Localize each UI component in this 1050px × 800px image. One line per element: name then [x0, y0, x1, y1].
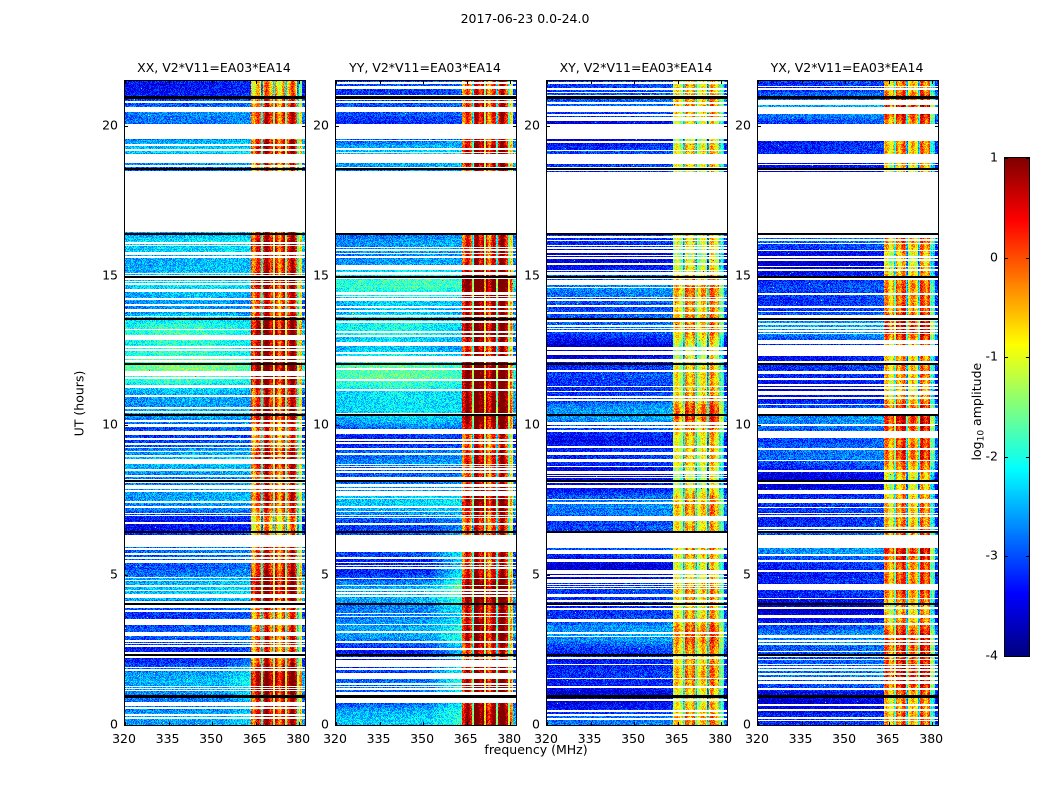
x-tick-label: 320: [534, 731, 558, 746]
y-tick-label: 10: [512, 417, 540, 432]
x-tick-label: 350: [621, 731, 645, 746]
x-tick: [169, 722, 170, 726]
x-tick: [256, 722, 257, 726]
colorbar-tick: [1004, 656, 1008, 657]
x-tick-top: [380, 80, 381, 84]
x-tick-top: [591, 80, 592, 84]
heatmap-canvas-yy: [336, 81, 516, 725]
x-tick-label: 350: [199, 731, 223, 746]
x-tick: [591, 722, 592, 726]
y-tick: [757, 276, 761, 277]
x-tick-top: [932, 80, 933, 84]
colorbar-tick: [1004, 357, 1008, 358]
y-tick: [546, 276, 550, 277]
x-tick-label: 320: [323, 731, 347, 746]
x-tick-top: [845, 80, 846, 84]
panel-title-yy: YY, V2*V11=EA03*EA14: [349, 60, 501, 75]
x-tick-label: 380: [919, 731, 943, 746]
y-tick: [335, 126, 339, 127]
y-tick-label: 0: [90, 717, 118, 732]
panel-title-xy: XY, V2*V11=EA03*EA14: [560, 60, 713, 75]
y-tick-label: 20: [90, 117, 118, 132]
colorbar-tick: [1004, 457, 1008, 458]
x-tick-top: [889, 80, 890, 84]
x-tick-label: 365: [243, 731, 267, 746]
colorbar-tick-label: -1: [968, 349, 998, 364]
panel-title-yx: YX, V2*V11=EA03*EA14: [771, 60, 924, 75]
panel-yy: YY, V2*V11=EA03*EA1432033535036538005101…: [335, 80, 515, 724]
colorbar-label-subscript: 10: [976, 430, 986, 441]
y-tick-right: [935, 725, 939, 726]
colorbar-tick-label: -3: [968, 548, 998, 563]
y-tick: [124, 725, 128, 726]
y-tick: [335, 575, 339, 576]
y-tick: [124, 575, 128, 576]
y-tick: [335, 425, 339, 426]
y-tick-label: 0: [301, 717, 329, 732]
y-tick-label: 0: [512, 717, 540, 732]
x-tick-label: 380: [497, 731, 521, 746]
x-tick-label: 380: [286, 731, 310, 746]
panel-yx: YX, V2*V11=EA03*EA1432033535036538005101…: [757, 80, 937, 724]
y-tick: [757, 425, 761, 426]
y-tick: [546, 425, 550, 426]
y-tick: [546, 575, 550, 576]
y-tick-right: [935, 126, 939, 127]
y-tick: [124, 425, 128, 426]
y-tick-label: 15: [512, 267, 540, 282]
y-tick: [546, 725, 550, 726]
y-tick-label: 10: [723, 417, 751, 432]
x-tick: [758, 722, 759, 726]
waterfall-figure: 2017-06-23 0.0-24.0 frequency (MHz) UT (…: [0, 0, 1050, 800]
x-tick-label: 335: [156, 731, 180, 746]
y-tick-label: 15: [723, 267, 751, 282]
heatmap-xx[interactable]: [124, 80, 306, 726]
x-tick-label: 320: [112, 731, 136, 746]
x-tick-label: 380: [708, 731, 732, 746]
x-tick-label: 365: [454, 731, 478, 746]
x-tick: [423, 722, 424, 726]
x-tick: [932, 722, 933, 726]
x-tick-label: 335: [367, 731, 391, 746]
panel-xy: XY, V2*V11=EA03*EA1432033535036538005101…: [546, 80, 726, 724]
y-tick-label: 5: [723, 567, 751, 582]
x-tick: [125, 722, 126, 726]
x-tick-top: [467, 80, 468, 84]
figure-suptitle: 2017-06-23 0.0-24.0: [0, 11, 1050, 26]
y-tick: [124, 126, 128, 127]
x-tick-top: [547, 80, 548, 84]
x-tick-top: [510, 80, 511, 84]
heatmap-xy[interactable]: [546, 80, 728, 726]
y-tick-label: 20: [723, 117, 751, 132]
heatmap-canvas-yx: [758, 81, 938, 725]
x-tick-label: 350: [832, 731, 856, 746]
x-tick-top: [802, 80, 803, 84]
colorbar-tick-right: [1026, 457, 1030, 458]
x-tick-label: 350: [410, 731, 434, 746]
y-tick-right: [935, 575, 939, 576]
colorbar-label-text: log: [969, 441, 984, 460]
x-tick: [547, 722, 548, 726]
colorbar-tick-right: [1026, 656, 1030, 657]
x-tick-top: [169, 80, 170, 84]
y-tick-label: 20: [512, 117, 540, 132]
colorbar-tick-right: [1026, 357, 1030, 358]
x-tick-label: 335: [578, 731, 602, 746]
colorbar-tick-right: [1026, 258, 1030, 259]
heatmap-yx[interactable]: [757, 80, 939, 726]
heatmap-canvas-xx: [125, 81, 305, 725]
colorbar-label-tail: amplitude: [969, 363, 984, 430]
y-tick-label: 5: [512, 567, 540, 582]
panel-title-xx: XX, V2*V11=EA03*EA14: [137, 60, 291, 75]
x-tick-top: [336, 80, 337, 84]
y-tick-right: [935, 425, 939, 426]
colorbar-tick: [1004, 158, 1008, 159]
y-tick-label: 5: [90, 567, 118, 582]
y-tick-label: 15: [301, 267, 329, 282]
x-tick: [467, 722, 468, 726]
x-tick: [380, 722, 381, 726]
y-tick: [335, 725, 339, 726]
x-tick-top: [125, 80, 126, 84]
heatmap-canvas-xy: [547, 81, 727, 725]
y-tick: [757, 126, 761, 127]
y-axis-label: UT (hours): [71, 371, 86, 437]
colorbar-tick-label: 1: [968, 150, 998, 165]
y-tick: [335, 276, 339, 277]
x-tick: [802, 722, 803, 726]
colorbar-tick: [1004, 258, 1008, 259]
y-tick-right: [935, 276, 939, 277]
x-tick-top: [678, 80, 679, 84]
y-tick: [757, 575, 761, 576]
x-tick: [212, 722, 213, 726]
x-tick-top: [212, 80, 213, 84]
x-tick-label: 365: [876, 731, 900, 746]
x-tick-label: 365: [665, 731, 689, 746]
x-tick-top: [423, 80, 424, 84]
x-tick: [889, 722, 890, 726]
y-tick-label: 0: [723, 717, 751, 732]
x-tick-top: [256, 80, 257, 84]
x-tick-top: [634, 80, 635, 84]
colorbar-label: log10 amplitude: [969, 363, 986, 461]
x-tick: [678, 722, 679, 726]
x-tick: [845, 722, 846, 726]
x-tick-top: [721, 80, 722, 84]
y-tick-label: 15: [90, 267, 118, 282]
x-tick-top: [299, 80, 300, 84]
y-tick: [757, 725, 761, 726]
colorbar-tick-label: -4: [968, 648, 998, 663]
y-tick-label: 20: [301, 117, 329, 132]
colorbar-tick-right: [1026, 556, 1030, 557]
y-tick-label: 10: [90, 417, 118, 432]
colorbar-tick-right: [1026, 158, 1030, 159]
x-tick-label: 320: [745, 731, 769, 746]
colorbar-tick: [1004, 556, 1008, 557]
y-tick: [124, 276, 128, 277]
x-tick-label: 335: [789, 731, 813, 746]
colorbar-gradient: [1004, 157, 1030, 657]
colorbar-tick-label: 0: [968, 249, 998, 264]
x-tick: [336, 722, 337, 726]
y-tick: [546, 126, 550, 127]
y-tick-label: 5: [301, 567, 329, 582]
x-tick: [634, 722, 635, 726]
x-tick-top: [758, 80, 759, 84]
y-tick-label: 10: [301, 417, 329, 432]
heatmap-yy[interactable]: [335, 80, 517, 726]
panel-xx: XX, V2*V11=EA03*EA1432033535036538005101…: [124, 80, 304, 724]
